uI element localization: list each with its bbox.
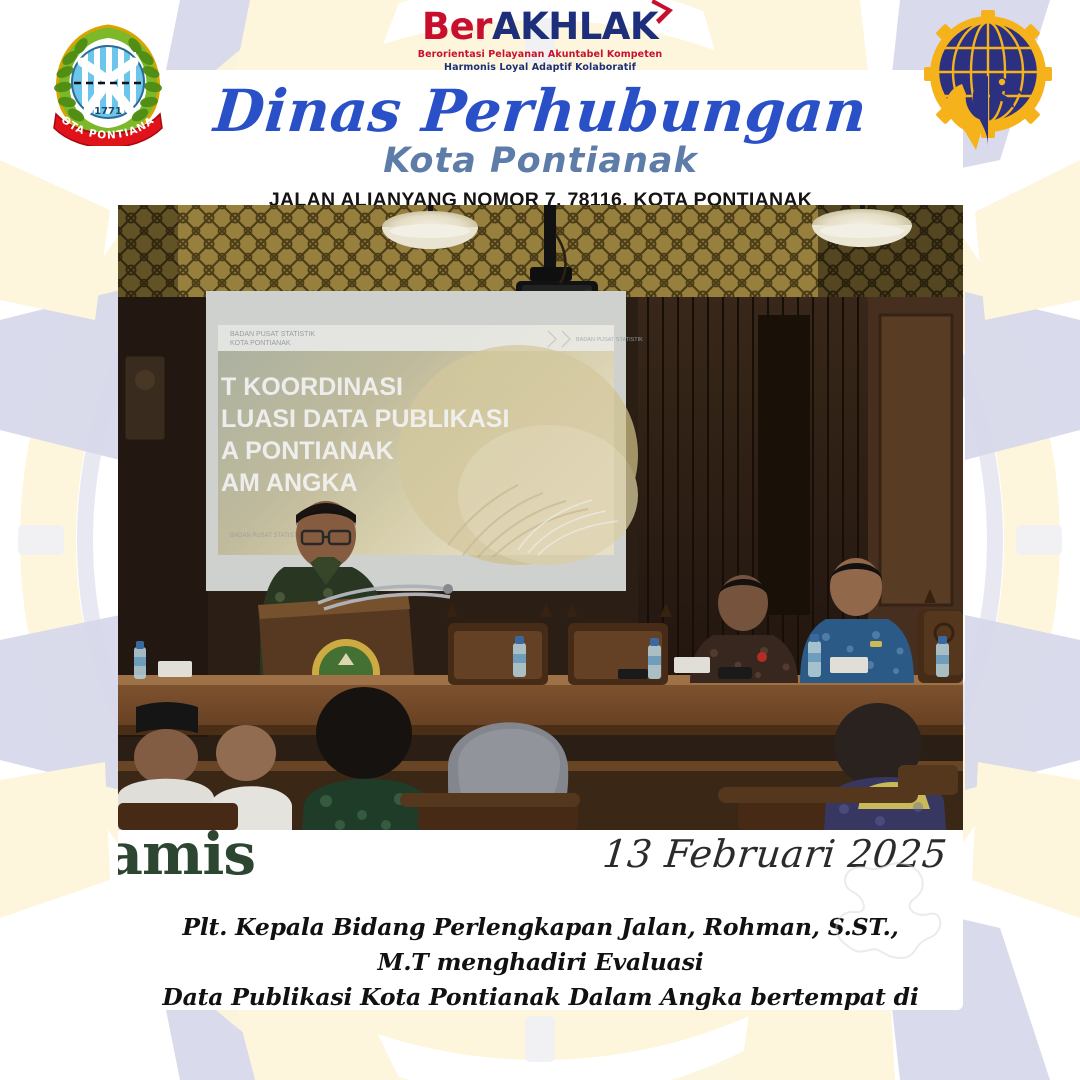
page-title: Dinas Perhubungan — [118, 82, 963, 141]
caption-line-1: Plt. Kepala Bidang Perlengkapan Jalan, R… — [154, 910, 927, 980]
swoosh-icon — [651, 0, 677, 27]
berakhlak-suffix: AKHLAK — [492, 5, 658, 48]
event-caption: Plt. Kepala Bidang Perlengkapan Jalan, R… — [154, 910, 927, 1010]
berakhlak-prefix: Ber — [422, 5, 492, 48]
kota-pontianak-emblem-svg: 1771 KOTA PONTIANAK — [46, 18, 170, 146]
card-header: Dinas Perhubungan Kota Pontianak JALAN A… — [118, 82, 963, 212]
berakhlak-wordmark: BerAKHLAK — [422, 8, 658, 45]
page-subtitle: Kota Pontianak — [118, 143, 963, 180]
tagline-line-1: Berorientasi Pelayanan Akuntabel Kompete… — [418, 49, 663, 60]
decorative-squiggle-icon — [825, 854, 945, 964]
day-label: Kamis — [118, 825, 255, 883]
emblem-year: 1771 — [94, 106, 122, 117]
kota-pontianak-emblem-icon: 1771 KOTA PONTIANAK — [46, 18, 170, 146]
event-photo: BADAN PUSAT STATISTIK KOTA PONTIANAK BAD… — [118, 205, 963, 830]
content-card: Dinas Perhubungan Kota Pontianak JALAN A… — [118, 70, 963, 1010]
tagline-line-2: Harmonis Loyal Adaptif Kolaboratif — [444, 62, 636, 73]
poster-canvas: BerAKHLAK Berorientasi Pelayanan Akuntab… — [0, 0, 1080, 1080]
dishub-emblem-icon — [918, 10, 1058, 152]
event-photo-illustration: BADAN PUSAT STATISTIK KOTA PONTIANAK BAD… — [118, 205, 963, 830]
caption-line-2: Data Publikasi Kota Pontianak Dalam Angk… — [154, 980, 927, 1010]
dishub-emblem-svg — [918, 10, 1058, 152]
